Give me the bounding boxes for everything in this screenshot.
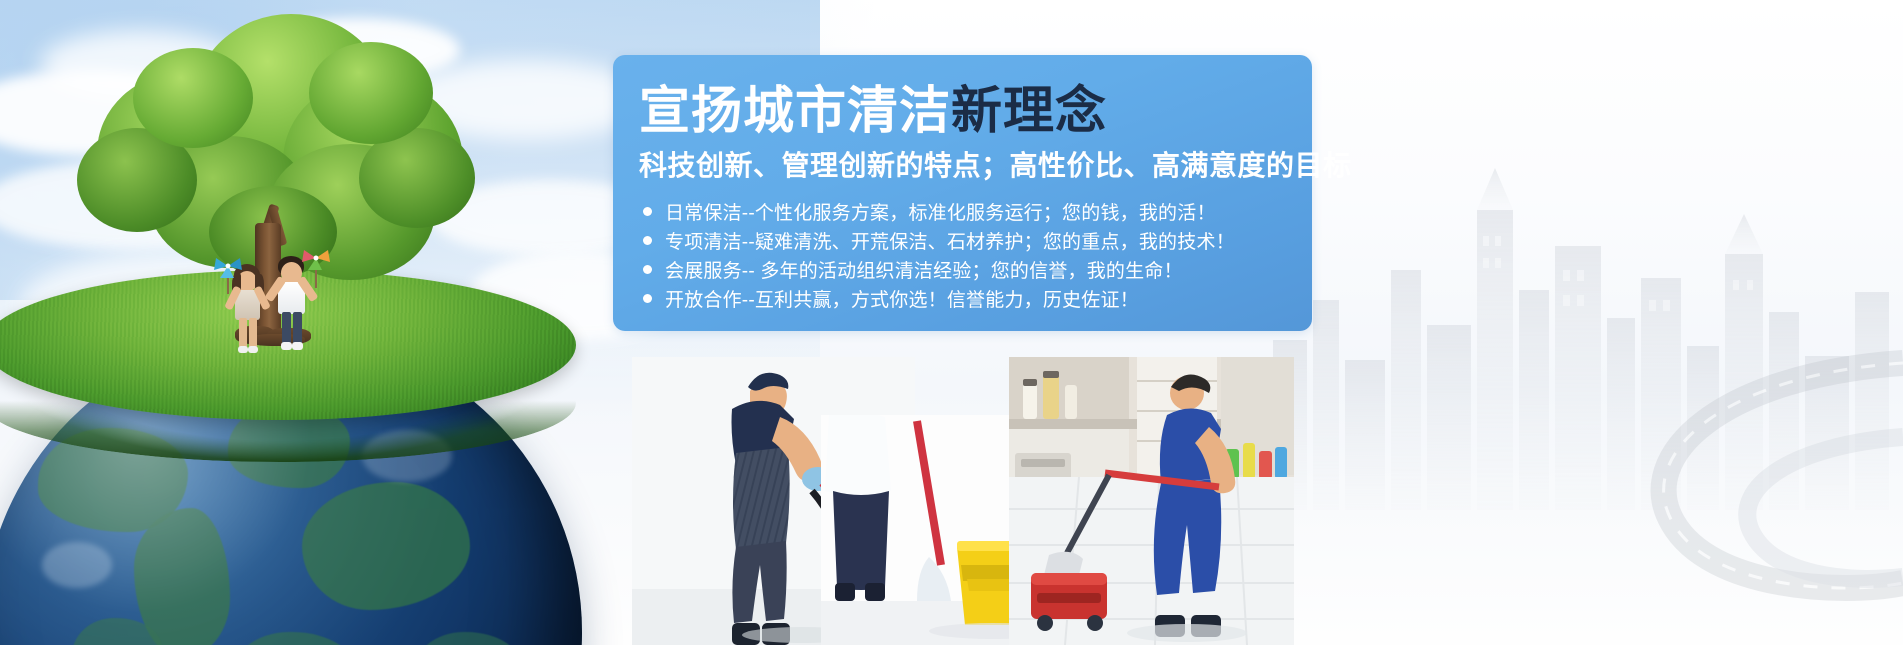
list-item: 专项清洁--疑难清洗、开荒保洁、石材养护；您的重点，我的技术！ [643, 226, 1235, 254]
feature-list: 日常保洁--个性化服务方案，标准化服务运行；您的钱，我的活！ 专项清洁--疑难清… [643, 197, 1235, 313]
message-panel: 宣扬城市清洁新理念 科技创新、管理创新的特点；高性价比、高满意度的目标 日常保洁… [613, 55, 1312, 331]
list-item-label: 日常保洁--个性化服务方案，标准化服务运行；您的钱，我的活！ [665, 198, 1216, 225]
pinwheel-right-icon [298, 246, 334, 288]
page-subtitle: 科技创新、管理创新的特点；高性价比、高满意度的目标 [639, 147, 1352, 185]
list-item: 会展服务-- 多年的活动组织清洁经验；您的信誉，我的生命！ [643, 255, 1235, 283]
list-item-label: 会展服务-- 多年的活动组织清洁经验；您的信誉，我的生命！ [665, 256, 1183, 283]
cleaning-service-banner: 宣扬城市清洁新理念 科技创新、管理创新的特点；高性价比、高满意度的目标 日常保洁… [0, 0, 1903, 645]
list-item-label: 开放合作--互利共赢，方式你选！信誉能力，历史佐证！ [665, 285, 1139, 312]
bullet-dot-icon [643, 207, 652, 216]
list-item-label: 专项清洁--疑难清洗、开荒保洁、石材养护；您的重点，我的技术！ [665, 227, 1235, 254]
bullet-dot-icon [643, 265, 652, 274]
list-item: 开放合作--互利共赢，方式你选！信誉能力，历史佐证！ [643, 284, 1235, 312]
headline-accent: 新理念 [951, 82, 1107, 139]
bullet-dot-icon [643, 294, 652, 303]
headline-highlight: 宣扬城市清洁 [639, 82, 951, 139]
list-item: 日常保洁--个性化服务方案，标准化服务运行；您的钱，我的活！ [643, 197, 1235, 225]
photo-strip [632, 357, 1294, 645]
curved-road-icon [1203, 345, 1903, 645]
bullet-dot-icon [643, 236, 652, 245]
earth-illustration [0, 270, 594, 645]
pinwheel-left-icon [210, 254, 246, 294]
photo-kitchen-mopping [1009, 357, 1294, 645]
page-title: 宣扬城市清洁新理念 [639, 81, 1107, 141]
